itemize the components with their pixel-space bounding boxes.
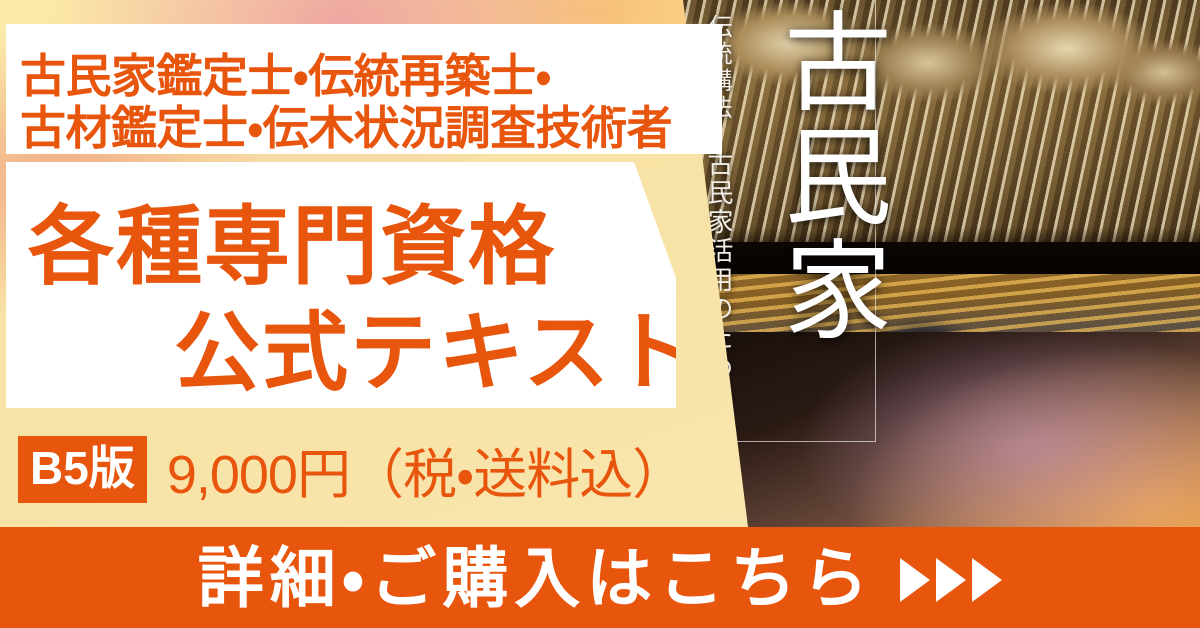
cta-arrow-group — [900, 558, 1002, 602]
credentials-panel: 古民家鑑定士・伝統再築士・ 古材鑑定士・伝木状況調査技術者 — [6, 24, 722, 154]
triangle-right-icon — [972, 558, 1002, 602]
format-badge-b5: B5版 — [18, 436, 147, 503]
cta-label: 詳細・ご購入はこちら — [198, 545, 874, 611]
credentials-line-2: 古材鑑定士・伝木状況調査技術者 — [20, 92, 672, 158]
headline-line-2: 公式テキスト — [174, 282, 699, 407]
promo-banner: 伝統構法 古民家活用のための調査と再生の 古民家 古民家鑑定士・伝統再築士・ 古… — [0, 0, 1200, 628]
triangle-right-icon — [900, 558, 930, 602]
price-row: B5版 9,000円（税・送料込） — [18, 430, 685, 509]
price-amount: 9,000円（税・送料込） — [167, 430, 686, 509]
cta-bar[interactable]: 詳細・ご購入はこちら — [0, 527, 1200, 628]
headline-panel: 各種専門資格 公式テキスト — [6, 162, 676, 408]
book-cover-title: 古民家 — [775, 6, 893, 348]
triangle-right-icon — [936, 558, 966, 602]
